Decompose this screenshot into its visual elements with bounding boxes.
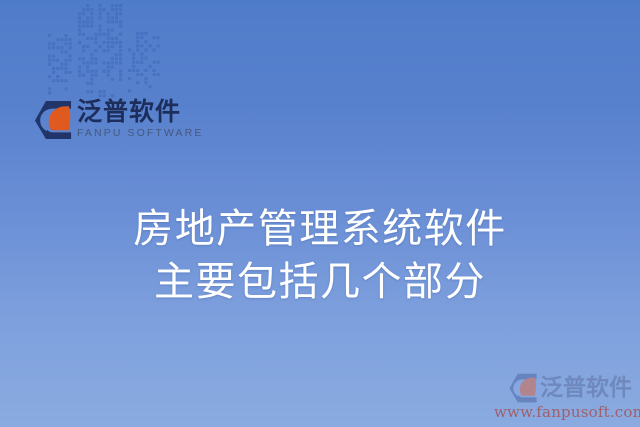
brand-text-block: 泛普软件 FANPU SOFTWARE (77, 98, 203, 140)
watermark-brand: 泛普软件 (494, 373, 632, 403)
fanpu-watermark-icon (508, 373, 538, 403)
brand-name-en: FANPU SOFTWARE (77, 127, 203, 140)
presentation-slide: 泛普软件 FANPU SOFTWARE 房地产管理系统软件 主要包括几个部分 泛… (0, 0, 640, 427)
title-line-2: 主要包括几个部分 (0, 256, 640, 309)
watermark-url: www.fanpusoft.com (494, 403, 632, 421)
watermark: 泛普软件 www.fanpusoft.com (494, 373, 632, 421)
fanpu-logo-icon (34, 100, 72, 140)
pixel-skyline-decoration (40, 0, 170, 100)
slide-title: 房地产管理系统软件 主要包括几个部分 (0, 203, 640, 309)
watermark-name-cn: 泛普软件 (540, 375, 632, 401)
brand-name-cn: 泛普软件 (77, 98, 203, 126)
brand-logo: 泛普软件 FANPU SOFTWARE (34, 98, 203, 140)
title-line-1: 房地产管理系统软件 (0, 203, 640, 256)
